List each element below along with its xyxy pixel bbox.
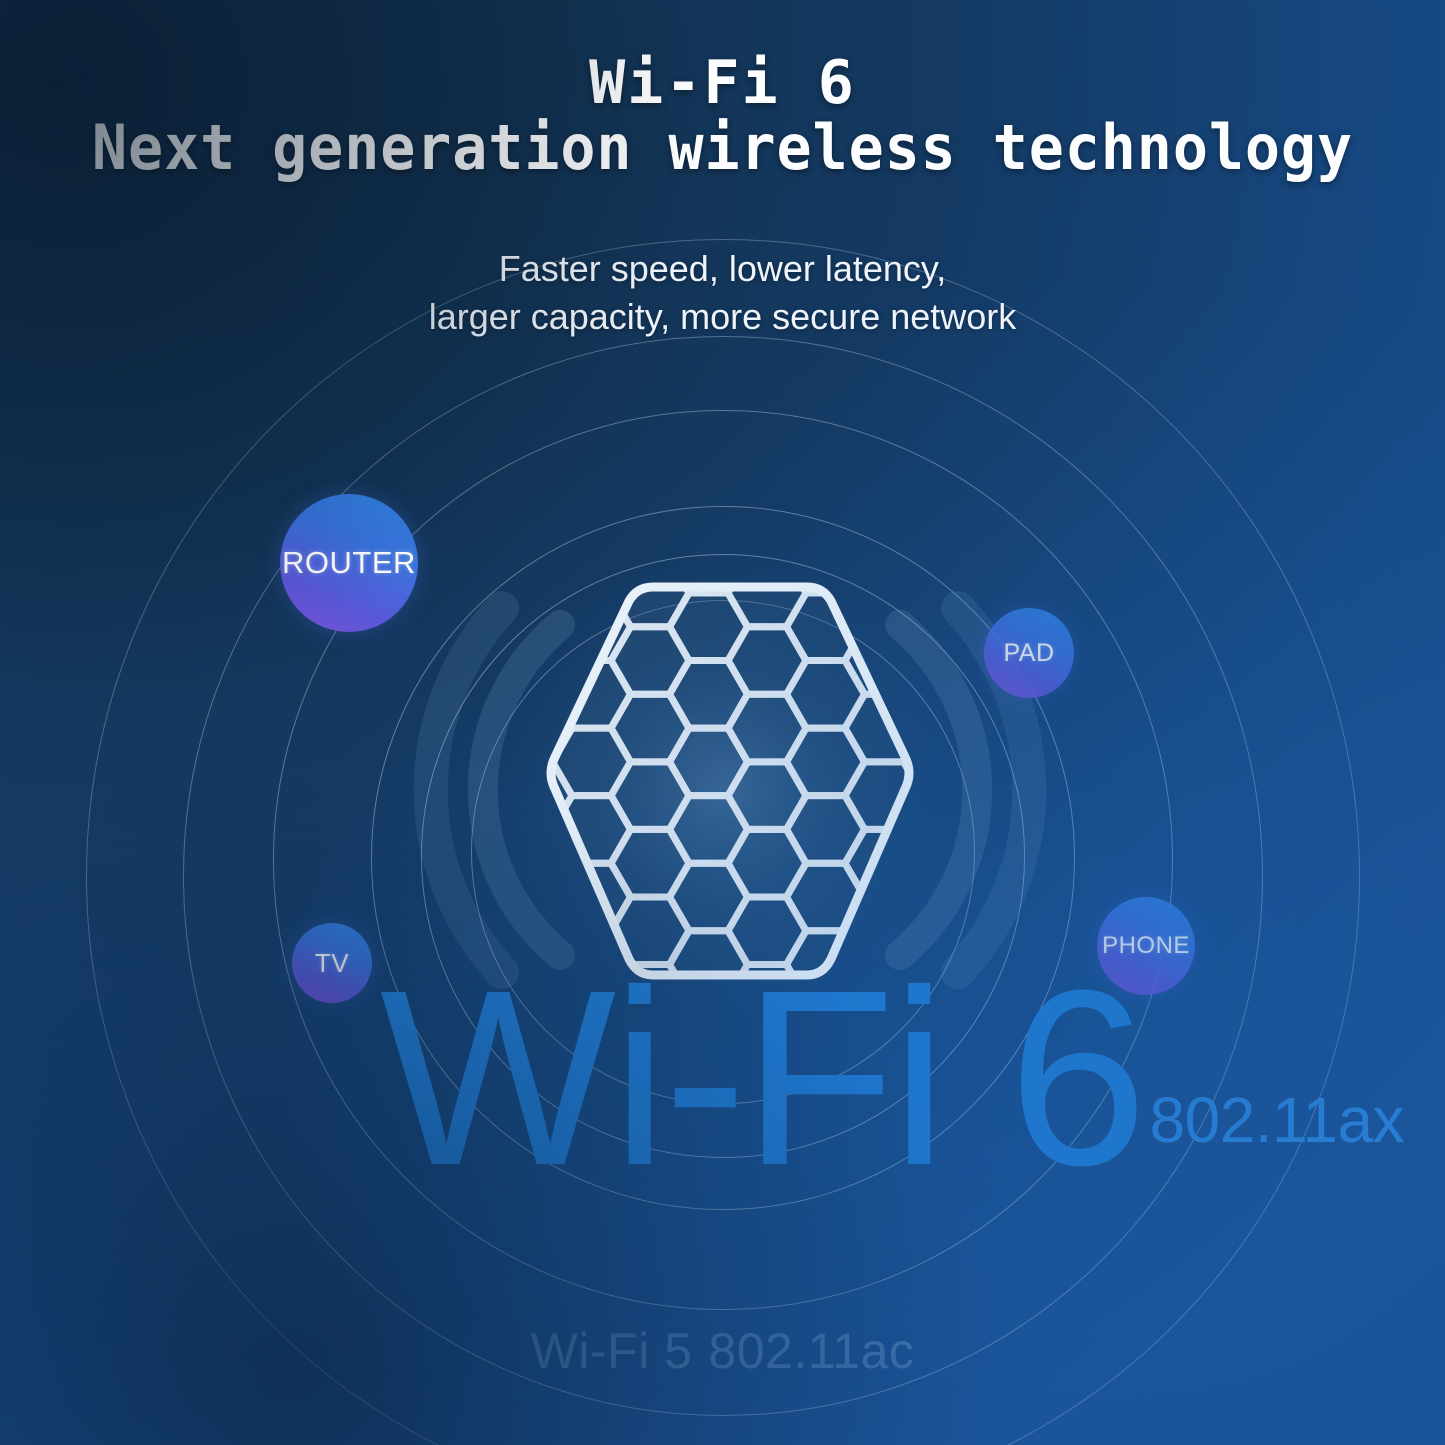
description-line-1: Faster speed, lower latency, bbox=[0, 245, 1445, 293]
wifi6-promo-banner: ROUTERPADPHONETV Wi-Fi 6 Next generation… bbox=[0, 0, 1445, 1445]
wifi5-name: Wi-Fi 5 bbox=[531, 1323, 693, 1379]
device-bubble-label: PAD bbox=[1003, 639, 1054, 668]
description-block: Faster speed, lower latency, larger capa… bbox=[0, 245, 1445, 341]
page-title: Wi-Fi 6 bbox=[0, 52, 1445, 115]
device-bubbles-layer: ROUTERPADPHONETV bbox=[0, 0, 1445, 1445]
wifi5-legacy-label: Wi-Fi 5802.11ac bbox=[0, 1322, 1445, 1380]
wifi6-logo-text: Wi-Fi 6 bbox=[380, 975, 1144, 1180]
device-bubble-tv[interactable]: TV bbox=[292, 923, 372, 1003]
wifi6-logo: Wi-Fi 6 802.11ax bbox=[380, 975, 1404, 1180]
device-bubble-label: TV bbox=[315, 948, 349, 979]
page-subtitle: Next generation wireless technology bbox=[43, 115, 1401, 180]
description-line-2: larger capacity, more secure network bbox=[0, 293, 1445, 341]
device-bubble-router[interactable]: ROUTER bbox=[280, 494, 418, 632]
wifi5-standard: 802.11ac bbox=[708, 1323, 914, 1379]
page-title-block: Wi-Fi 6 Next generation wireless technol… bbox=[0, 52, 1445, 180]
wifi6-standard-label: 802.11ax bbox=[1150, 1088, 1405, 1180]
device-bubble-label: ROUTER bbox=[282, 545, 416, 581]
device-bubble-pad[interactable]: PAD bbox=[984, 608, 1074, 698]
